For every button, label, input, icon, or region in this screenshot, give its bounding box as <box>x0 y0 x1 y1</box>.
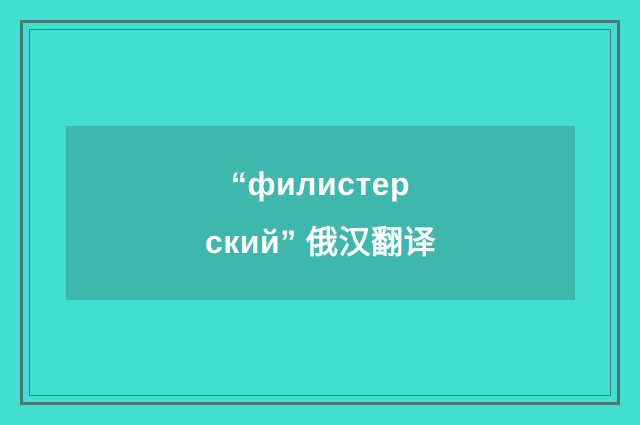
title-panel: “филистер ский” 俄汉翻译 <box>66 126 575 300</box>
title-line-1: “филистер <box>231 155 410 213</box>
title-line-2: ский” 俄汉翻译 <box>205 213 436 271</box>
card-canvas: “филистер ский” 俄汉翻译 <box>0 0 640 425</box>
